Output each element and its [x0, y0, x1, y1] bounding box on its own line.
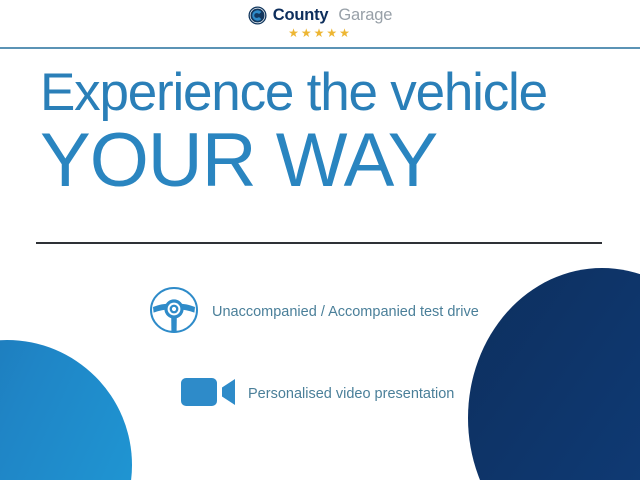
- decorative-circle-bottom-left: [0, 340, 132, 480]
- video-camera-icon: [180, 376, 236, 413]
- steering-wheel-icon: [148, 286, 200, 339]
- headline-line-2: YOUR WAY: [40, 123, 547, 199]
- decorative-circle-bottom-right: [468, 268, 640, 480]
- brand-subname: Garage: [338, 7, 392, 24]
- promo-banner: County Garage ★★★★★ Experience the vehic…: [0, 0, 640, 480]
- feature-video-presentation: Personalised video presentation: [180, 376, 454, 413]
- banner-header: County Garage ★★★★★: [0, 0, 640, 48]
- header-divider-rule: [0, 47, 640, 49]
- county-garage-circle-logo-icon: [248, 6, 267, 25]
- brand-logo[interactable]: County Garage ★★★★★: [0, 6, 640, 39]
- content-divider: [36, 242, 602, 244]
- rating-stars: ★★★★★: [288, 27, 352, 39]
- brand-logo-row: County Garage: [248, 6, 392, 25]
- feature-label-test-drive: Unaccompanied / Accompanied test drive: [212, 305, 479, 320]
- feature-label-video: Personalised video presentation: [248, 387, 454, 402]
- headline-line-1: Experience the vehicle: [40, 66, 547, 119]
- feature-test-drive: Unaccompanied / Accompanied test drive: [148, 286, 479, 339]
- headline-block: Experience the vehicle YOUR WAY: [40, 66, 547, 199]
- brand-name: County: [273, 7, 329, 24]
